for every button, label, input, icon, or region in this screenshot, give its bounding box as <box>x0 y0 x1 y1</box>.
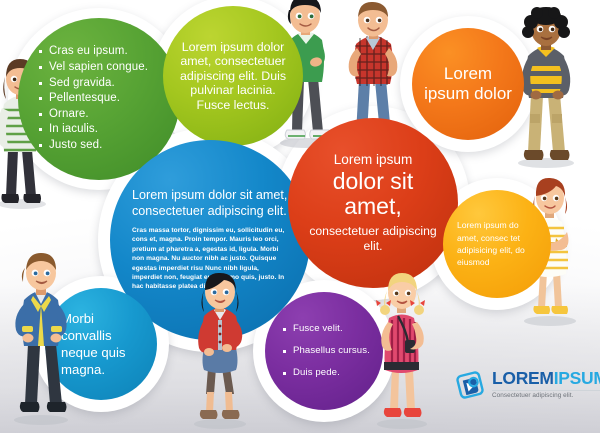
list-item: Pellentesque. <box>38 91 170 107</box>
blue-bubble-heading: Lorem ipsum dolor sit amet, consectetuer… <box>132 188 288 219</box>
lime-bubble-text: Lorem ipsum dolor amet, consectetuer adi… <box>163 40 303 112</box>
list-item: Phasellus cursus. <box>282 340 373 362</box>
red-bubble-line3: consectetuer adipiscing elit. <box>302 224 444 254</box>
character-girl-red-jacket-blue-skirt <box>182 272 258 432</box>
list-item: Cras eu ipsum. <box>38 44 170 60</box>
green-bullet-list: Cras eu ipsum. Vel sapien congue. Sed gr… <box>38 44 170 153</box>
list-item: In iaculis. <box>38 122 170 138</box>
red-bubble-line1: Lorem ipsum <box>302 152 444 168</box>
list-item: Sed gravida. <box>38 76 170 92</box>
infographic-canvas: Cras eu ipsum. Vel sapien congue. Sed gr… <box>0 0 600 433</box>
gold-bubble-text: Lorem ipsum do amet, consec tet adipisic… <box>443 219 551 269</box>
list-item: Ornare. <box>38 107 170 123</box>
logo-tagline: Consectetuer adipiscing elit. <box>492 390 600 399</box>
gold-bubble[interactable]: Lorem ipsum do amet, consec tet adipisic… <box>443 190 551 298</box>
red-bubble[interactable]: Lorem ipsum dolor sit amet, consectetuer… <box>288 118 458 288</box>
orange-bubble-text: Lorem ipsum dolor <box>412 64 524 104</box>
list-item: Duis pede. <box>282 362 373 384</box>
character-boy-blue-jacket <box>2 252 80 428</box>
logo-wordmark: LOREMIPSUM <box>492 370 600 388</box>
logo[interactable]: LOREMIPSUM Consectetuer adipiscing elit. <box>455 370 600 400</box>
logo-word-ipsum: IPSUM <box>554 368 600 388</box>
purple-bullet-list: Fusce velit. Phasellus cursus. Duis pede… <box>282 318 373 384</box>
character-girl-pink-striped-dress <box>364 272 440 432</box>
orange-bubble[interactable]: Lorem ipsum dolor <box>412 28 524 140</box>
logo-word-lorem: LOREM <box>492 368 554 388</box>
list-item: Vel sapien congue. <box>38 60 170 76</box>
list-item: Justo sed. <box>38 138 170 154</box>
red-bubble-line2: dolor sit amet, <box>302 169 444 219</box>
logo-mark-icon <box>455 370 485 400</box>
lime-bubble[interactable]: Lorem ipsum dolor amet, consectetuer adi… <box>163 6 303 146</box>
list-item: Fusce velit. <box>282 318 373 340</box>
